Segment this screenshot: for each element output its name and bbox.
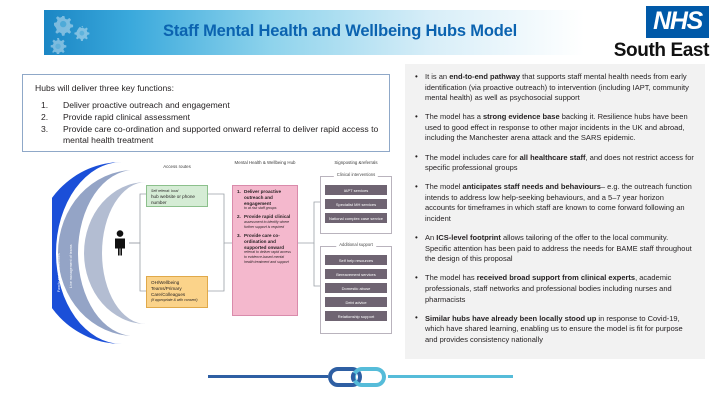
key-functions-list: 1. Deliver proactive outreach and engage…	[33, 100, 381, 147]
bullet-emphasis: anticipates staff needs and behaviours	[463, 182, 601, 191]
bullet-item: •An ICS-level footprint allows tailoring…	[411, 233, 695, 265]
page-title: Staff Mental Health and Wellbeing Hubs M…	[120, 22, 560, 41]
bullet-item: •Similar hubs have already been locally …	[411, 314, 695, 346]
list-item-strong: Deliver proactive outreach and engagemen…	[244, 189, 281, 206]
list-item-strong: Provide rapid clinical	[244, 214, 290, 219]
bullet-list: •It is an end-to-end pathway that suppor…	[411, 72, 695, 345]
access-node-text: hub website or phone number	[151, 194, 195, 205]
list-item: 3. Provide care co-ordination and suppor…	[33, 124, 381, 147]
bullet-text: It is an	[425, 72, 449, 81]
list-item-small: referral to deliver rapid access to evid…	[244, 250, 294, 264]
list-item-number: 1.	[237, 189, 241, 195]
model-rationale-bullets: •It is an end-to-end pathway that suppor…	[405, 64, 705, 359]
chip-specialist-mh-services: Specialist MH services	[324, 198, 388, 210]
bullet-dot-icon: •	[415, 112, 418, 123]
list-item: 2. Provide rapid clinical assessment	[33, 112, 381, 123]
bullet-item: •It is an end-to-end pathway that suppor…	[411, 72, 695, 104]
access-node-self-referral: Self referral: local hub website or phon…	[146, 185, 208, 207]
list-item-number: 3.	[237, 233, 241, 239]
panel-additional-support: Additional support Self help resources B…	[320, 246, 392, 334]
bullet-text: The model has a	[425, 112, 483, 121]
list-item-text: Provide care co-ordination and supported…	[63, 124, 378, 145]
footer-rule-left	[208, 375, 328, 378]
bullet-text: The model has	[425, 273, 477, 282]
bullet-item: •The model anticipates staff needs and b…	[411, 182, 695, 224]
hub-model-diagram: Family and communities Line management o…	[18, 158, 403, 348]
list-item: 1. Deliver proactive outreach and engage…	[237, 189, 294, 211]
list-item-number: 2.	[41, 112, 48, 123]
bullet-text: The model	[425, 182, 463, 191]
chip-relationship-support: Relationship support	[324, 310, 388, 322]
nhs-logo: NHS South East	[614, 6, 709, 62]
key-functions-box: Hubs will deliver three key functions: 1…	[22, 74, 390, 152]
chip-debt-advice: Debt advice	[324, 296, 388, 308]
column-heading-signposting: Signposting &referrals	[316, 160, 396, 165]
bullet-dot-icon: •	[415, 313, 418, 324]
list-item-number: 2.	[237, 214, 241, 220]
bullet-text: An	[425, 233, 436, 242]
nhs-wordmark: NHS	[646, 6, 709, 38]
bullet-dot-icon: •	[415, 273, 418, 284]
hub-functions-box: 1. Deliver proactive outreach and engage…	[232, 185, 298, 316]
list-item-number: 3.	[41, 124, 48, 135]
bullet-dot-icon: •	[415, 72, 418, 83]
access-node-oh-referral: OH/Wellbeing Teams/Primary Care/Colleagu…	[146, 276, 208, 308]
slide-header: Staff Mental Health and Wellbeing Hubs M…	[0, 0, 717, 62]
bullet-emphasis: ICS-level footprint	[436, 233, 501, 242]
bullet-item: •The model includes care for all healthc…	[411, 153, 695, 174]
list-item: 2. Provide rapid clinical assessment to …	[237, 214, 294, 229]
slide: Staff Mental Health and Wellbeing Hubs M…	[0, 0, 717, 403]
chip-national-complex-case-service: National complex case service	[324, 212, 388, 224]
list-item-text: Provide rapid clinical assessment	[63, 112, 190, 122]
slide-footer	[0, 363, 717, 389]
list-item-small: assessment to identify where further sup…	[244, 220, 294, 229]
bullet-emphasis: strong evidence base	[483, 112, 560, 121]
bullet-dot-icon: •	[415, 182, 418, 193]
list-item: 3. Provide care co-ordination and suppor…	[237, 233, 294, 264]
bullet-item: •The model has a strong evidence base ba…	[411, 112, 695, 144]
bullet-text: The model includes care for	[425, 153, 520, 162]
bullet-dot-icon: •	[415, 233, 418, 244]
cogs-icon	[48, 12, 118, 54]
bullet-emphasis: received broad support from clinical exp…	[477, 273, 635, 282]
chip-bereavement-services: Bereavement services	[324, 268, 388, 280]
bullet-emphasis: all healthcare staff	[520, 153, 586, 162]
list-item-number: 1.	[41, 100, 48, 111]
interlocking-links-logo	[328, 365, 388, 389]
chip-self-help-resources: Self help resources	[324, 254, 388, 266]
access-node-text: (if appropriate & with consent)	[151, 298, 204, 303]
access-node-lead: OH/Wellbeing Teams/Primary Care/Colleagu…	[151, 280, 185, 297]
bullet-emphasis: Similar hubs have already been locally s…	[425, 314, 596, 323]
panel-title: Clinical interventions	[334, 172, 378, 177]
panel-title: Additional support	[336, 242, 376, 247]
bullet-dot-icon: •	[415, 152, 418, 163]
list-item-small: to at risk staff groups	[244, 206, 294, 211]
hub-functions-list: 1. Deliver proactive outreach and engage…	[237, 189, 294, 264]
list-item: 1. Deliver proactive outreach and engage…	[33, 100, 381, 111]
column-heading-access: Access routes	[146, 164, 208, 169]
panel-clinical-interventions: Clinical interventions IAPT services Spe…	[320, 176, 392, 234]
list-item-text: Deliver proactive outreach and engagemen…	[63, 100, 230, 110]
column-heading-hub: Mental Health & Wellbeing Hub	[230, 160, 300, 165]
bullet-emphasis: end-to-end pathway	[449, 72, 520, 81]
nhs-region-label: South East	[614, 40, 709, 62]
chip-domestic-abuse: Domestic abuse	[324, 282, 388, 294]
bullet-item: •The model has received broad support fr…	[411, 273, 695, 305]
key-functions-lead: Hubs will deliver three key functions:	[35, 83, 381, 93]
footer-rule-right	[388, 375, 513, 378]
chip-iapt-services: IAPT services	[324, 184, 388, 196]
list-item-strong: Provide care co-ordination and supported…	[244, 233, 284, 250]
